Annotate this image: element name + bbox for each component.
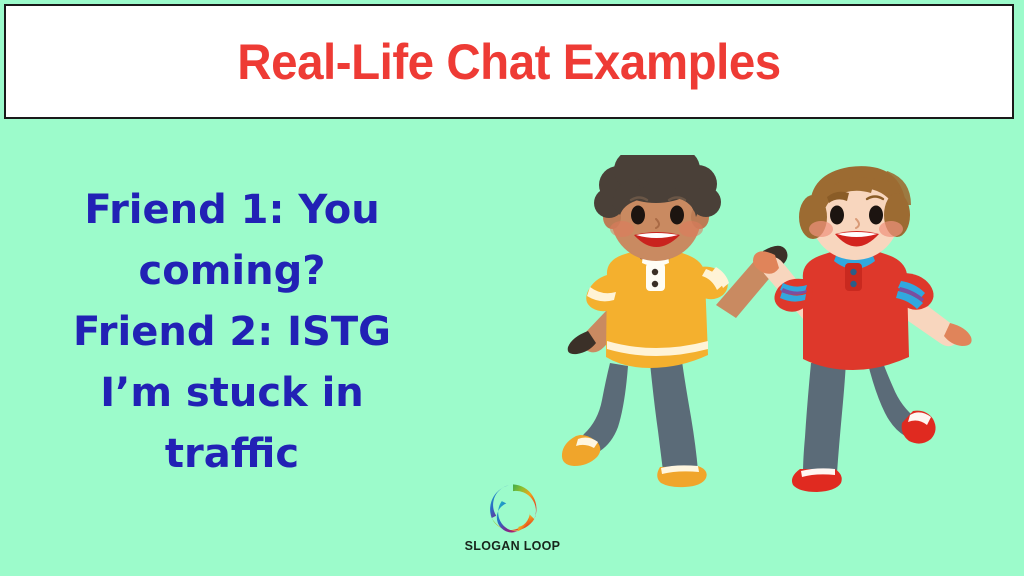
child-left-figure [562, 155, 788, 487]
chat-line: I’m stuck in [46, 363, 418, 424]
header-banner: Real-Life Chat Examples [4, 4, 1014, 119]
chat-line: traffic [46, 424, 418, 485]
two-kids-high-five-illustration [530, 155, 1000, 495]
loop-ring-icon [485, 481, 541, 537]
page-title: Real-Life Chat Examples [237, 33, 780, 91]
logo-wordmark: SLOGAN LOOP [455, 539, 570, 553]
brand-logo: SLOGAN LOOP [455, 481, 570, 553]
chat-line: coming? [46, 241, 418, 302]
illustration-svg [530, 155, 1000, 495]
chat-line: Friend 2: ISTG [46, 302, 418, 363]
chat-line: Friend 1: You [46, 180, 418, 241]
child-right-figure [753, 166, 972, 492]
chat-text-block: Friend 1: You coming? Friend 2: ISTG I’m… [46, 180, 418, 485]
slide-canvas: Real-Life Chat Examples Friend 1: You co… [0, 0, 1024, 576]
